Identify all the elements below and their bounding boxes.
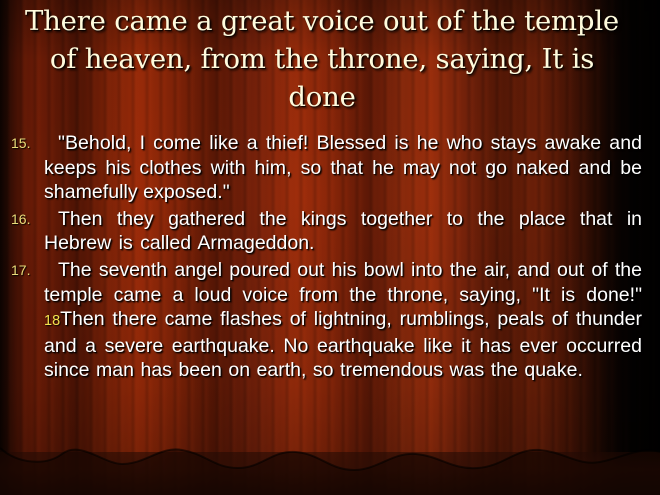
verse-number-15: 15. <box>11 135 41 151</box>
verse-item-15: 15. "Behold, I come like a thief! Blesse… <box>0 131 660 205</box>
verse-item-16: 16. Then they gathered the kings togethe… <box>0 207 660 256</box>
slide-canvas: There came a great voice out of the temp… <box>0 0 660 495</box>
verse-text-15-body: "Behold, I come like a thief! Blessed is… <box>44 132 642 203</box>
verse-number-17: 17. <box>11 262 41 278</box>
verse-text-15: "Behold, I come like a thief! Blessed is… <box>44 131 642 205</box>
inline-verse-number-18: 18 <box>44 313 60 329</box>
verse-list: 15. "Behold, I come like a thief! Blesse… <box>0 131 660 385</box>
verse-text-16: Then they gathered the kings together to… <box>44 207 642 256</box>
verse-text-17-part1: The seventh angel poured out his bowl in… <box>44 259 642 306</box>
verse-item-17: 17. The seventh angel poured out his bow… <box>0 258 660 383</box>
slide-title: There came a great voice out of the temp… <box>24 2 620 116</box>
verse-text-17: The seventh angel poured out his bowl in… <box>44 258 642 383</box>
verse-text-17-part2: Then there came flashes of lightning, ru… <box>44 308 642 381</box>
verse-number-16: 16. <box>11 211 41 227</box>
verse-text-16-body: Then they gathered the kings together to… <box>44 208 642 255</box>
